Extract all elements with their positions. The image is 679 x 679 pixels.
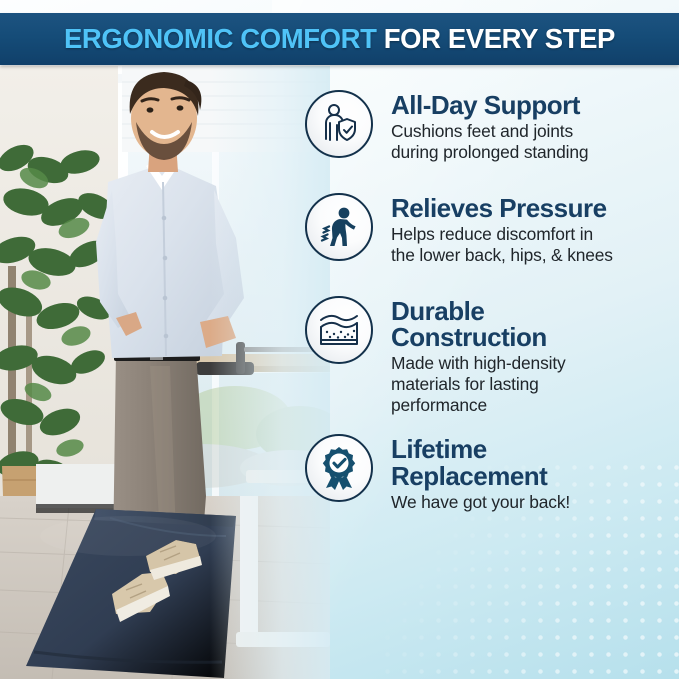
banner-title: ERGONOMIC COMFORT FOR EVERY STEP: [64, 25, 615, 53]
feature-list: All-Day Support Cushions feet and joints…: [305, 90, 679, 513]
feature-item-lifetime-replacement: Lifetime Replacement We have got your ba…: [305, 434, 679, 513]
feature-description: Cushions feet and joints during prolonge…: [391, 121, 588, 163]
feature-text-group: Durable Construction Made with high-dens…: [391, 296, 566, 417]
product-lifestyle-photo: [0, 66, 330, 679]
back-pain-person-icon: [305, 193, 373, 261]
feature-title: All-Day Support: [391, 92, 588, 119]
banner-title-white: FOR EVERY STEP: [376, 23, 615, 54]
person-shield-icon: [305, 90, 373, 158]
feature-title: Lifetime Replacement: [391, 436, 570, 490]
header-banner: ERGONOMIC COMFORT FOR EVERY STEP: [0, 13, 679, 65]
banner-title-accent: ERGONOMIC COMFORT: [64, 23, 377, 54]
feature-item-all-day-support: All-Day Support Cushions feet and joints…: [305, 90, 679, 163]
infographic-canvas: ERGONOMIC COMFORT FOR EVERY STEP All-Day…: [0, 0, 679, 679]
foam-layers-icon: [305, 296, 373, 364]
feature-title: Durable Construction: [391, 298, 566, 352]
feature-title: Relieves Pressure: [391, 195, 613, 222]
feature-description: Made with high-density materials for las…: [391, 353, 566, 416]
feature-description: We have got your back!: [391, 492, 570, 513]
feature-item-durable-construction: Durable Construction Made with high-dens…: [305, 296, 679, 417]
feature-description: Helps reduce discomfort in the lower bac…: [391, 224, 613, 266]
feature-text-group: Relieves Pressure Helps reduce discomfor…: [391, 193, 613, 266]
feature-text-group: Lifetime Replacement We have got your ba…: [391, 434, 570, 513]
feature-text-group: All-Day Support Cushions feet and joints…: [391, 90, 588, 163]
feature-item-relieves-pressure: Relieves Pressure Helps reduce discomfor…: [305, 193, 679, 266]
award-badge-check-icon: [305, 434, 373, 502]
